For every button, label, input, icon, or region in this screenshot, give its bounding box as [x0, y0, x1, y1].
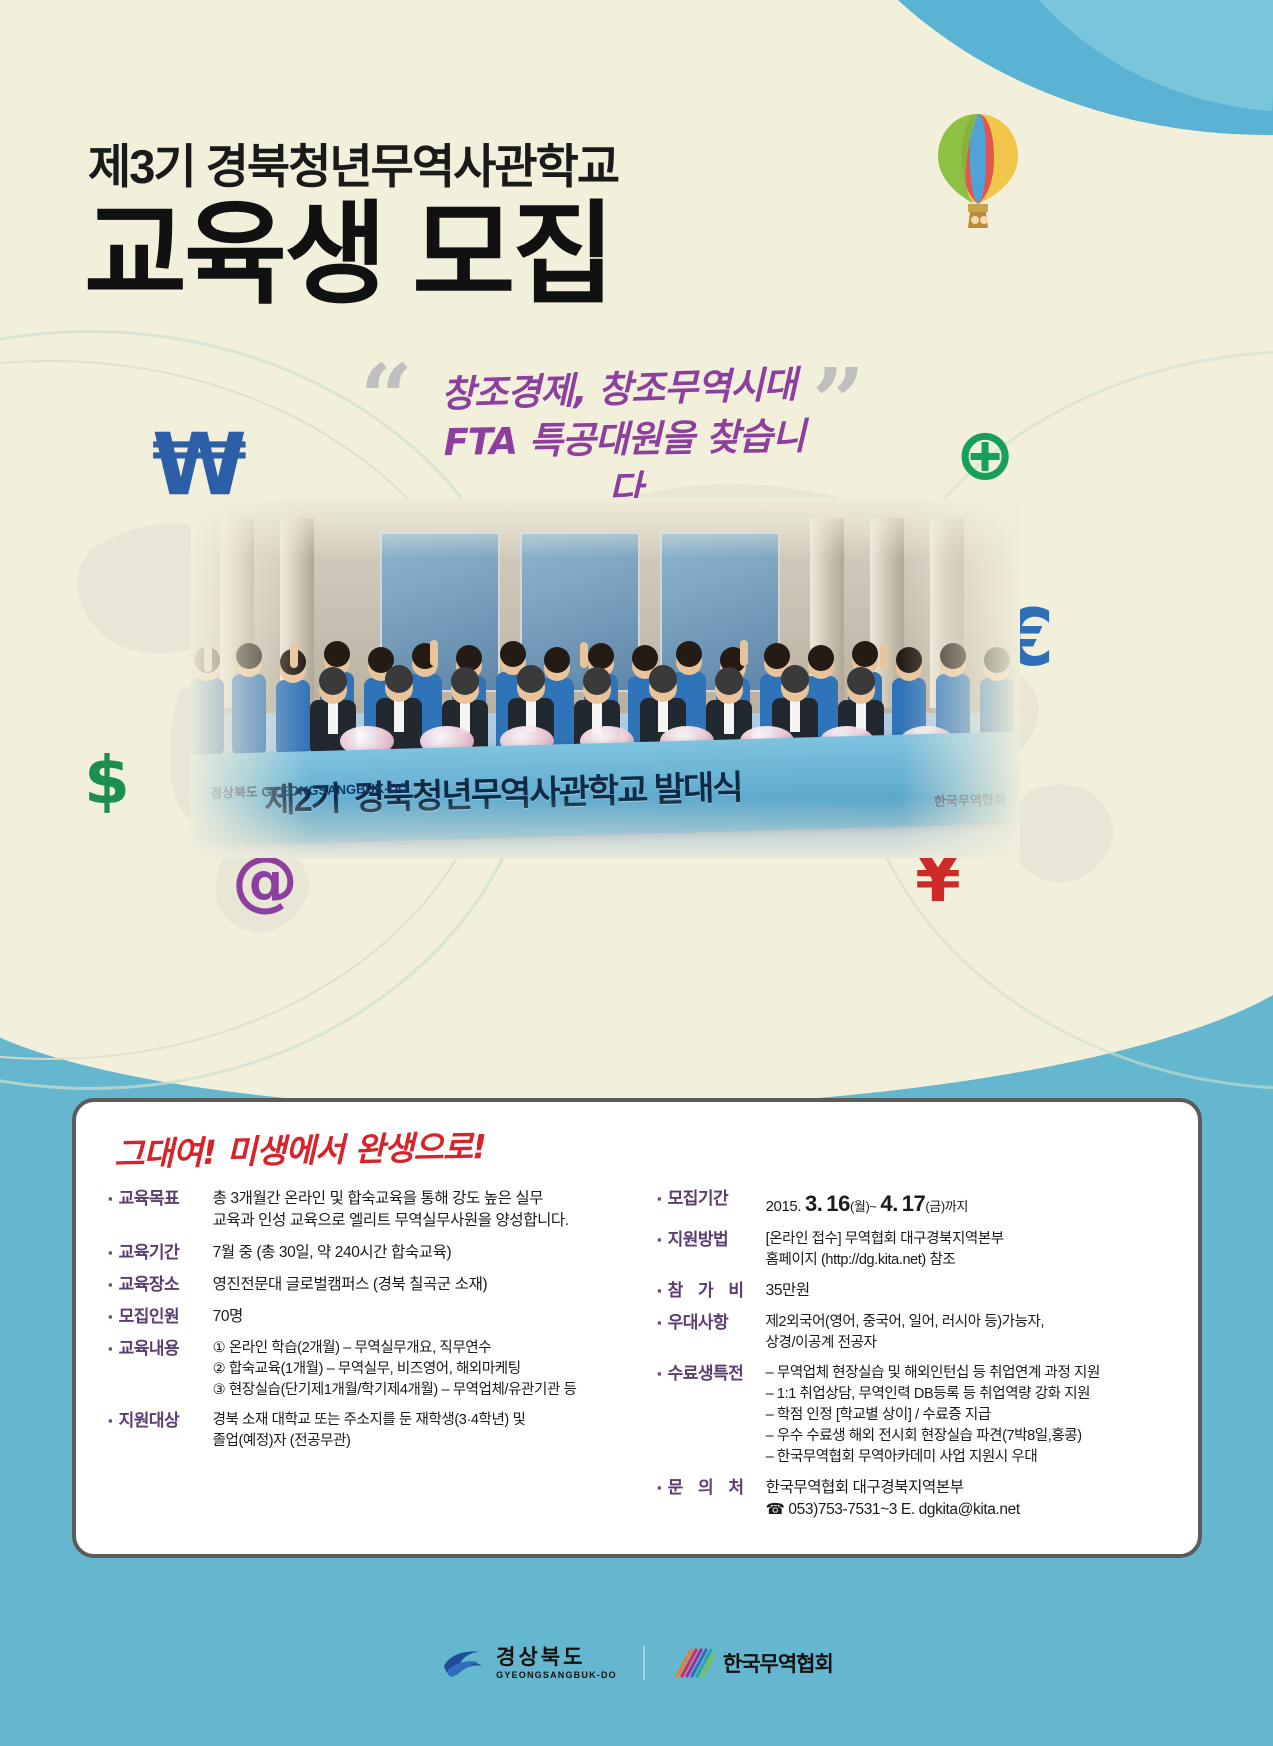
contact-line-2[interactable]: ☎ 053)753-7531~3 E. dgkita@kita.net — [766, 1499, 1170, 1521]
goal-line-2: 교육과 인성 교육으로 엘리트 무역실무사원을 양성합니다. — [213, 1210, 639, 1232]
date-day-1: 16 — [826, 1191, 850, 1216]
poster-kicker: 제3기 경북청년무역사관학교 — [88, 128, 618, 197]
photo-logo-kita: 한국무역협회 — [934, 789, 1006, 810]
info-value-fee: 35만원 — [756, 1280, 1170, 1302]
info-row-benefits: ▪ 수료생특전 – 무역업체 현장실습 및 해외인턴십 등 취업연계 과정 지원… — [657, 1363, 1170, 1468]
logo-kita: 한국무역협회 — [671, 1646, 833, 1680]
info-label-goal: 교육목표 — [119, 1188, 203, 1211]
bullet-icon: ▪ — [657, 1477, 662, 1499]
contact-line-1: 한국무역협회 대구경북지역본부 — [766, 1477, 1170, 1499]
poster-headline: 교육생 모집 — [84, 196, 612, 314]
apply-line-1: [온라인 접수] 무역협회 대구경북지역본부 — [766, 1229, 1170, 1250]
info-row-how-to-apply: ▪ 지원방법 [온라인 접수] 무역협회 대구경북지역본부 홈페이지 (http… — [657, 1229, 1170, 1271]
bullet-icon: ▪ — [108, 1338, 113, 1360]
info-label-curriculum: 교육내용 — [119, 1338, 203, 1361]
fee-line-1: 35만원 — [766, 1280, 1170, 1302]
poster-root: 제3기 경북청년무역사관학교 교육생 모집 “ ” 창조경제, 창조무역시대 F… — [0, 0, 1273, 1746]
info-label-eligibility: 지원대상 — [119, 1410, 203, 1433]
info-value-eligibility: 경북 소재 대학교 또는 주소지를 둔 재학생(3·4학년) 및 졸업(예정)자… — [203, 1410, 639, 1452]
date-month-2: 4. — [880, 1191, 898, 1216]
info-value-contact: 한국무역협회 대구경북지역본부 ☎ 053)753-7531~3 E. dgki… — [756, 1477, 1170, 1522]
info-label-how-to-apply: 지원방법 — [668, 1229, 756, 1252]
info-label-benefits: 수료생특전 — [668, 1363, 756, 1386]
bullet-icon: ▪ — [108, 1188, 113, 1210]
date-sup-2: (금)까지 — [925, 1199, 968, 1214]
info-value-benefits: – 무역업체 현장실습 및 해외인턴십 등 취업연계 과정 지원 – 1:1 취… — [756, 1363, 1170, 1468]
info-label-application-window: 모집기간 — [668, 1188, 756, 1211]
benefit-line-2: – 1:1 취업상담, 무역인력 DB등록 등 취업역량 강화 지원 — [766, 1384, 1170, 1405]
info-value-preference: 제2외국어(영어, 중국어, 일어, 러시아 등)가능자, 상경/이공계 전공자 — [756, 1312, 1170, 1354]
curriculum-line-1: ① 온라인 학습(2개월) – 무역실무개요, 직무연수 — [213, 1338, 639, 1359]
quota-line-1: 70명 — [213, 1306, 639, 1328]
quote-open-mark: “ — [360, 362, 413, 436]
info-row-preference: ▪ 우대사항 제2외국어(영어, 중국어, 일어, 러시아 등)가능자, 상경/… — [657, 1312, 1170, 1354]
bullet-icon: ▪ — [657, 1312, 662, 1334]
bullet-icon: ▪ — [108, 1274, 113, 1296]
bullet-icon: ▪ — [657, 1363, 662, 1385]
info-row-eligibility: ▪ 지원대상 경북 소재 대학교 또는 주소지를 둔 재학생(3·4학년) 및 … — [108, 1410, 639, 1452]
bullet-icon: ▪ — [657, 1280, 662, 1302]
event-photo: 제2기 경북청년무역사관학교 발대식 경상북도 GYEONGSANGBUK-DO… — [190, 498, 1020, 858]
benefit-line-5: – 한국무역협회 무역아카데미 사업 지원시 우대 — [766, 1447, 1170, 1468]
info-label-fee: 참 가 비 — [668, 1280, 756, 1303]
apply-line-2[interactable]: 홈페이지 (http://dg.kita.net) 참조 — [766, 1250, 1170, 1271]
info-row-period: ▪ 교육기간 7월 중 (총 30일, 약 240시간 합숙교육) — [108, 1242, 639, 1265]
info-row-curriculum: ▪ 교육내용 ① 온라인 학습(2개월) – 무역실무개요, 직무연수 ② 합숙… — [108, 1338, 639, 1401]
kita-mark-icon — [671, 1646, 713, 1680]
date-day-2: 17 — [902, 1191, 926, 1216]
bullet-icon: ▪ — [108, 1306, 113, 1328]
curriculum-line-2: ② 합숙교육(1개월) – 무역실무, 비즈영어, 해외마케팅 — [213, 1359, 639, 1380]
date-month-1: 3. — [805, 1191, 823, 1216]
bullet-icon: ▪ — [657, 1229, 662, 1251]
info-value-how-to-apply: [온라인 접수] 무역협회 대구경북지역본부 홈페이지 (http://dg.k… — [756, 1229, 1170, 1271]
footer-divider — [643, 1646, 645, 1680]
info-value-application-window: 2015. 3. 16(월)~ 4. 17(금)까지 — [756, 1188, 1170, 1220]
info-label-venue: 교육장소 — [119, 1274, 203, 1297]
info-row-venue: ▪ 교육장소 영진전문대 글로벌캠퍼스 (경북 칠곡군 소재) — [108, 1274, 639, 1297]
eligibility-line-2: 졸업(예정)자 (전공무관) — [213, 1431, 639, 1452]
info-row-fee: ▪ 참 가 비 35만원 — [657, 1280, 1170, 1303]
info-value-quota: 70명 — [203, 1306, 639, 1328]
gyeongsangbuk-mark-icon — [440, 1646, 486, 1680]
dollar-currency-icon: $ — [84, 748, 130, 814]
info-column-left: ▪ 교육목표 총 3개월간 온라인 및 합숙교육을 통해 강도 높은 실무 교육… — [108, 1188, 639, 1531]
info-value-curriculum: ① 온라인 학습(2개월) – 무역실무개요, 직무연수 ② 합숙교육(1개월)… — [203, 1338, 639, 1401]
gyeongsangbuk-korean: 경상북도 — [496, 1647, 617, 1668]
info-label-contact: 문 의 처 — [668, 1477, 756, 1500]
info-card-title: 그대여! 미생에서 완생으로! — [114, 1120, 487, 1176]
bullet-icon: ▪ — [657, 1188, 662, 1210]
venue-line-1: 영진전문대 글로벌캠퍼스 (경북 칠곡군 소재) — [213, 1274, 639, 1296]
gyeongsangbuk-english: GYEONGSANGBUK-DO — [496, 1671, 617, 1680]
tagline-line-1: 창조경제, 창조무역시대 — [418, 359, 819, 420]
info-value-venue: 영진전문대 글로벌캠퍼스 (경북 칠곡군 소재) — [203, 1274, 639, 1296]
info-column-right: ▪ 모집기간 2015. 3. 16(월)~ 4. 17(금)까지 ▪ 지원방법… — [639, 1188, 1170, 1531]
bullet-icon: ▪ — [108, 1242, 113, 1264]
benefit-line-1: – 무역업체 현장실습 및 해외인턴십 등 취업연계 과정 지원 — [766, 1363, 1170, 1384]
info-label-quota: 모집인원 — [119, 1306, 203, 1329]
info-columns: ▪ 교육목표 총 3개월간 온라인 및 합숙교육을 통해 강도 높은 실무 교육… — [108, 1188, 1170, 1531]
hot-air-balloon-icon — [918, 108, 1038, 258]
goal-line-1: 총 3개월간 온라인 및 합숙교육을 통해 강도 높은 실무 — [213, 1188, 639, 1210]
curriculum-line-3: ③ 현장실습(단기제1개월/학기제4개월) – 무역업체/유관기관 등 — [213, 1380, 639, 1401]
preference-line-2: 상경/이공계 전공자 — [766, 1333, 1170, 1354]
info-row-contact: ▪ 문 의 처 한국무역협회 대구경북지역본부 ☎ 053)753-7531~3… — [657, 1477, 1170, 1522]
globe-icon: ⊕ — [955, 418, 1015, 490]
eligibility-line-1: 경북 소재 대학교 또는 주소지를 둔 재학생(3·4학년) 및 — [213, 1410, 639, 1431]
period-line-1: 7월 중 (총 30일, 약 240시간 합숙교육) — [213, 1242, 639, 1264]
info-value-goal: 총 3개월간 온라인 및 합숙교육을 통해 강도 높은 실무 교육과 인성 교육… — [203, 1188, 639, 1233]
benefit-line-4: – 우수 수료생 해외 전시회 현장실습 파견(7박8일,홍콩) — [766, 1426, 1170, 1447]
info-value-period: 7월 중 (총 30일, 약 240시간 합숙교육) — [203, 1242, 639, 1264]
info-label-preference: 우대사항 — [668, 1312, 756, 1335]
bullet-icon: ▪ — [108, 1410, 113, 1432]
poster-tagline: 창조경제, 창조무역시대 FTA 특공대원을 찾습니다 — [418, 359, 822, 520]
info-row-quota: ▪ 모집인원 70명 — [108, 1306, 639, 1329]
photo-banner-title: 경북청년무역사관학교 발대식 — [353, 759, 742, 819]
info-card: 그대여! 미생에서 완생으로! ▪ 교육목표 총 3개월간 온라인 및 합숙교육… — [72, 1098, 1202, 1558]
kita-wordmark: 한국무역협회 — [723, 1648, 833, 1678]
info-row-goal: ▪ 교육목표 총 3개월간 온라인 및 합숙교육을 통해 강도 높은 실무 교육… — [108, 1188, 639, 1233]
won-currency-icon: ₩ — [152, 422, 247, 508]
logo-gyeongsangbuk: 경상북도 GYEONGSANGBUK-DO — [440, 1646, 617, 1680]
footer-logos: 경상북도 GYEONGSANGBUK-DO 한국무역협회 — [0, 1628, 1273, 1698]
gyeongsangbuk-wordmark: 경상북도 GYEONGSANGBUK-DO — [496, 1647, 617, 1680]
info-row-application-window: ▪ 모집기간 2015. 3. 16(월)~ 4. 17(금)까지 — [657, 1188, 1170, 1220]
benefit-line-3: – 학점 인정 [학교별 상이] / 수료증 지급 — [766, 1405, 1170, 1426]
date-sup-1: (월)~ — [850, 1199, 877, 1214]
date-year: 2015. — [766, 1198, 802, 1215]
info-label-period: 교육기간 — [119, 1242, 203, 1265]
preference-line-1: 제2외국어(영어, 중국어, 일어, 러시아 등)가능자, — [766, 1312, 1170, 1333]
